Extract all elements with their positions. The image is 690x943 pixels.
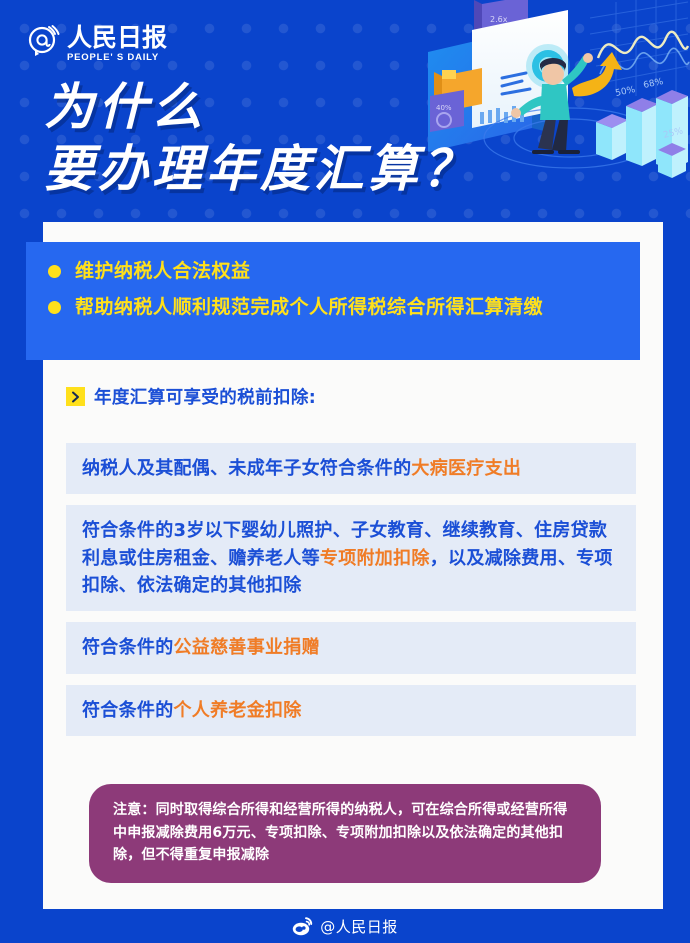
- logo-english-name: PEOPLE' S DAILY: [67, 53, 167, 63]
- deduction-text: 纳税人及其配偶、未成年子女符合条件的大病医疗支出: [82, 455, 622, 482]
- deduction-list: 纳税人及其配偶、未成年子女符合条件的大病医疗支出 符合条件的3岁以下婴幼儿照护、…: [66, 443, 636, 747]
- deduction-pre: 纳税人及其配偶、未成年子女符合条件的: [82, 458, 411, 479]
- deduction-highlight: 个人养老金扣除: [174, 700, 302, 721]
- list-item: 符合条件的3岁以下婴幼儿照护、子女教育、继续教育、住房贷款利息或住房租金、赡养老…: [66, 505, 636, 611]
- note-box: 注意：同时取得综合所得和经营所得的纳税人，可在综合所得或经营所得中申报减除费用6…: [89, 784, 601, 883]
- bullet-dot-icon: [48, 301, 61, 314]
- deduction-pre: 符合条件的: [82, 700, 174, 721]
- logo-chinese-name: 人民日报: [67, 25, 167, 50]
- people-daily-logo: 人民日报 PEOPLE' S DAILY: [27, 24, 167, 63]
- footer-handle: @人民日报: [320, 916, 398, 937]
- note-text: 注意：同时取得综合所得和经营所得的纳税人，可在综合所得或经营所得中申报减除费用6…: [113, 799, 579, 867]
- section-header: 年度汇算可享受的税前扣除:: [66, 384, 316, 409]
- svg-text:2.6x: 2.6x: [490, 15, 508, 24]
- deduction-text: 符合条件的个人养老金扣除: [82, 697, 622, 724]
- section-title: 年度汇算可享受的税前扣除:: [94, 384, 316, 409]
- weibo-icon: [292, 916, 313, 937]
- svg-text:50%: 50%: [615, 85, 637, 99]
- deduction-text: 符合条件的3岁以下婴幼儿照护、子女教育、继续教育、住房贷款利息或住房租金、赡养老…: [82, 517, 622, 599]
- list-item: 符合条件的个人养老金扣除: [66, 685, 636, 736]
- list-item: 维护纳税人合法权益: [48, 258, 620, 285]
- deduction-highlight: 专项附加扣除: [320, 548, 430, 569]
- at-sign-icon: [27, 24, 61, 58]
- headline-line-2: 要办理年度汇算？: [44, 144, 476, 194]
- bullet-text: 维护纳税人合法权益: [75, 258, 620, 285]
- list-item: 符合条件的公益慈善事业捐赠: [66, 622, 636, 673]
- infographic-poster: 2.6x 40%: [0, 0, 690, 943]
- headline-line-1: 为什么: [44, 82, 476, 132]
- deduction-pre: 符合条件的: [82, 637, 174, 658]
- bullet-text: 帮助纳税人顺利规范完成个人所得税综合所得汇算清缴: [75, 294, 620, 321]
- list-item: 帮助纳税人顺利规范完成个人所得税综合所得汇算清缴: [48, 294, 620, 321]
- list-item: 纳税人及其配偶、未成年子女符合条件的大病医疗支出: [66, 443, 636, 494]
- bullet-dot-icon: [48, 265, 61, 278]
- page-title: 为什么 要办理年度汇算？: [44, 82, 476, 194]
- deduction-highlight: 大病医疗支出: [411, 458, 521, 479]
- deduction-highlight: 公益慈善事业捐赠: [174, 637, 320, 658]
- deduction-text: 符合条件的公益慈善事业捐赠: [82, 634, 622, 661]
- footer: @人民日报: [0, 909, 690, 943]
- chevron-right-icon: [66, 387, 85, 406]
- benefits-panel: 维护纳税人合法权益 帮助纳税人顺利规范完成个人所得税综合所得汇算清缴: [26, 242, 640, 360]
- svg-text:68%: 68%: [643, 77, 665, 91]
